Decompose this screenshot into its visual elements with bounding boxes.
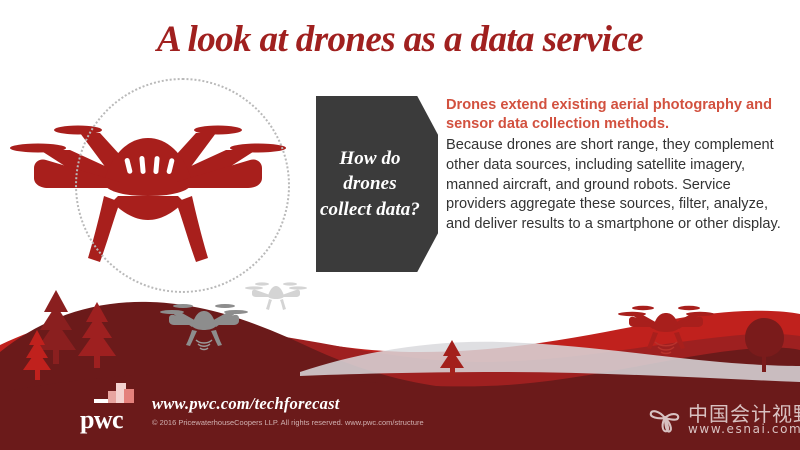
pwc-logo-mark xyxy=(94,379,142,407)
watermark-url: www.esnai.com xyxy=(688,422,800,436)
question-callout: How do drones collect data? xyxy=(316,96,438,272)
copy-body-text: Because drones are short range, they com… xyxy=(446,136,786,235)
page-title: A look at drones as a data service xyxy=(0,18,800,61)
infographic-canvas: A look at drones as a data service How d… xyxy=(0,0,800,450)
body-copy-block: Drones extend existing aerial photograph… xyxy=(446,96,786,235)
copy-lead-text: Drones extend existing aerial photograph… xyxy=(446,96,786,135)
pwc-logo: pwc xyxy=(80,379,142,433)
gray-drone-faint xyxy=(245,282,307,310)
footer-url[interactable]: www.pwc.com/techforecast xyxy=(152,394,340,414)
esnai-flower-icon xyxy=(648,402,682,436)
dashed-circle-accent xyxy=(75,78,290,293)
question-callout-text: How do drones collect data? xyxy=(316,146,438,221)
esnai-watermark: 中国会计视野 www.esnai.com xyxy=(648,398,794,446)
footer-legal-text: © 2016 PricewaterhouseCoopers LLP. All r… xyxy=(152,418,424,427)
pwc-wordmark: pwc xyxy=(80,407,123,433)
